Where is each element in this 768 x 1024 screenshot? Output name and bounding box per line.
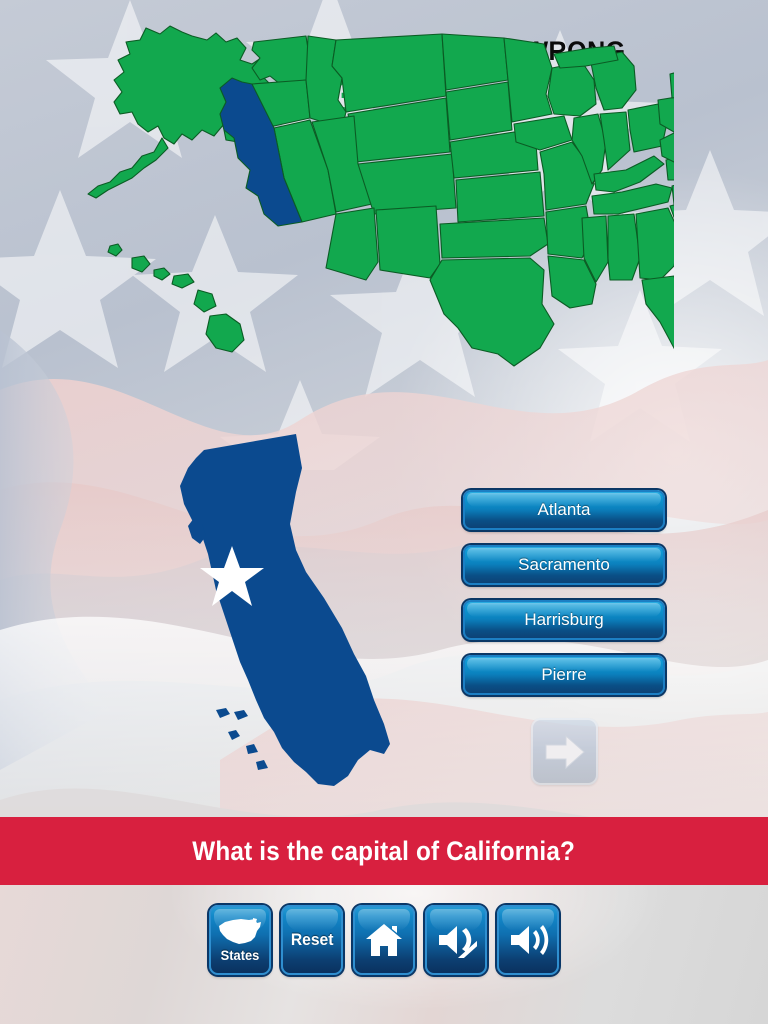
question-bar: What is the capital of California?	[0, 817, 768, 885]
state-alabama	[608, 214, 640, 280]
state-kansas	[456, 172, 544, 222]
state-new-mexico	[376, 206, 440, 278]
state-wisconsin	[548, 62, 596, 116]
quiz-app-screen: CORRECT 3 WRONG 0	[0, 0, 768, 1024]
volume-button[interactable]	[497, 905, 559, 975]
state-washington	[252, 36, 310, 84]
reset-button-label: Reset	[291, 930, 334, 950]
california-shape	[180, 434, 390, 786]
state-georgia	[636, 208, 674, 280]
states-button[interactable]: States	[209, 905, 271, 975]
state-north-dakota	[442, 34, 508, 90]
home-icon	[364, 922, 404, 958]
reset-button[interactable]: Reset	[281, 905, 343, 975]
answer-option-1[interactable]: Atlanta	[463, 490, 665, 530]
answer-options-list: Atlanta Sacramento Harrisburg Pierre	[463, 490, 665, 710]
states-button-label: States	[221, 947, 260, 963]
next-question-button[interactable]	[531, 718, 598, 785]
state-texas	[430, 258, 554, 366]
home-button[interactable]	[353, 905, 415, 975]
state-minnesota	[504, 38, 552, 122]
us-map-overview[interactable]	[74, 18, 674, 448]
arrow-right-icon	[544, 734, 586, 770]
mute-button[interactable]	[425, 905, 487, 975]
speaker-mute-icon	[435, 922, 477, 958]
speaker-volume-icon	[507, 922, 549, 958]
us-map-icon	[217, 917, 263, 947]
answer-option-2[interactable]: Sacramento	[463, 545, 665, 585]
state-hawaii	[108, 244, 244, 352]
state-detail-california[interactable]	[178, 432, 408, 797]
state-south-dakota	[446, 82, 512, 140]
channel-islands	[216, 708, 268, 770]
state-florida	[642, 276, 674, 374]
answer-option-4[interactable]: Pierre	[463, 655, 665, 695]
bottom-toolbar: States Reset	[0, 905, 768, 975]
answer-option-3[interactable]: Harrisburg	[463, 600, 665, 640]
state-arizona	[326, 208, 378, 280]
state-indiana	[600, 112, 630, 170]
state-oklahoma	[440, 218, 548, 258]
question-text: What is the capital of California?	[193, 836, 576, 867]
state-colorado	[358, 154, 456, 214]
